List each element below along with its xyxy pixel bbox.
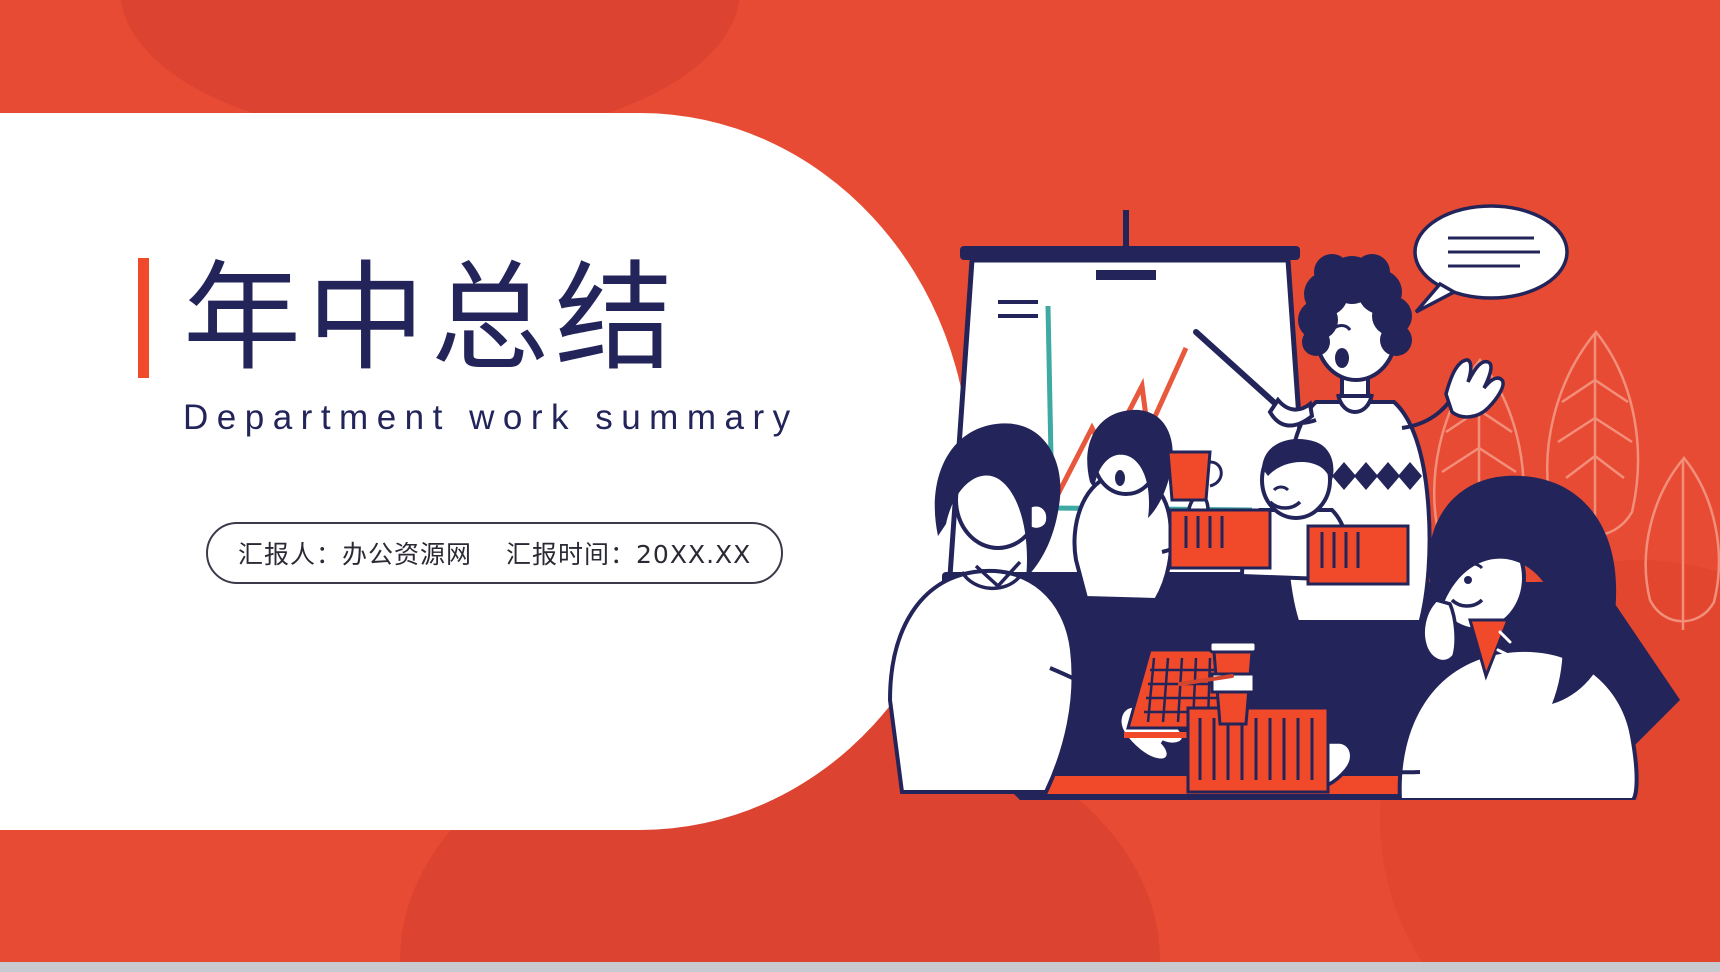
woman-ear <box>1030 505 1048 530</box>
notebook-left-icon <box>1170 510 1270 568</box>
speech-bubble-icon <box>1415 206 1567 312</box>
presenter-open-hand <box>1446 360 1503 417</box>
presenter-info-pill: 汇报人：办公资源网 汇报时间：20XX.XX <box>206 522 783 584</box>
slide-canvas: 年中总结 Department work summary 汇报人：办公资源网 汇… <box>0 0 1720 972</box>
title-accent-bar <box>138 258 149 378</box>
title-row: 年中总结 <box>138 258 838 378</box>
title-block: 年中总结 Department work summary 汇报人：办公资源网 汇… <box>138 258 838 584</box>
notebook-bottom-icon <box>1188 708 1328 792</box>
page-subtitle: Department work summary <box>183 398 838 438</box>
date-label: 汇报时间：20XX.XX <box>506 535 751 571</box>
bottom-strip <box>0 962 1720 972</box>
team-meeting-illustration <box>880 180 1720 800</box>
notebook-right-icon <box>1308 526 1408 584</box>
page-title: 年中总结 <box>183 259 679 377</box>
chin-hand <box>1423 600 1456 662</box>
reporter-label: 汇报人：办公资源网 <box>238 535 472 571</box>
presenter-mouth <box>1335 348 1349 368</box>
